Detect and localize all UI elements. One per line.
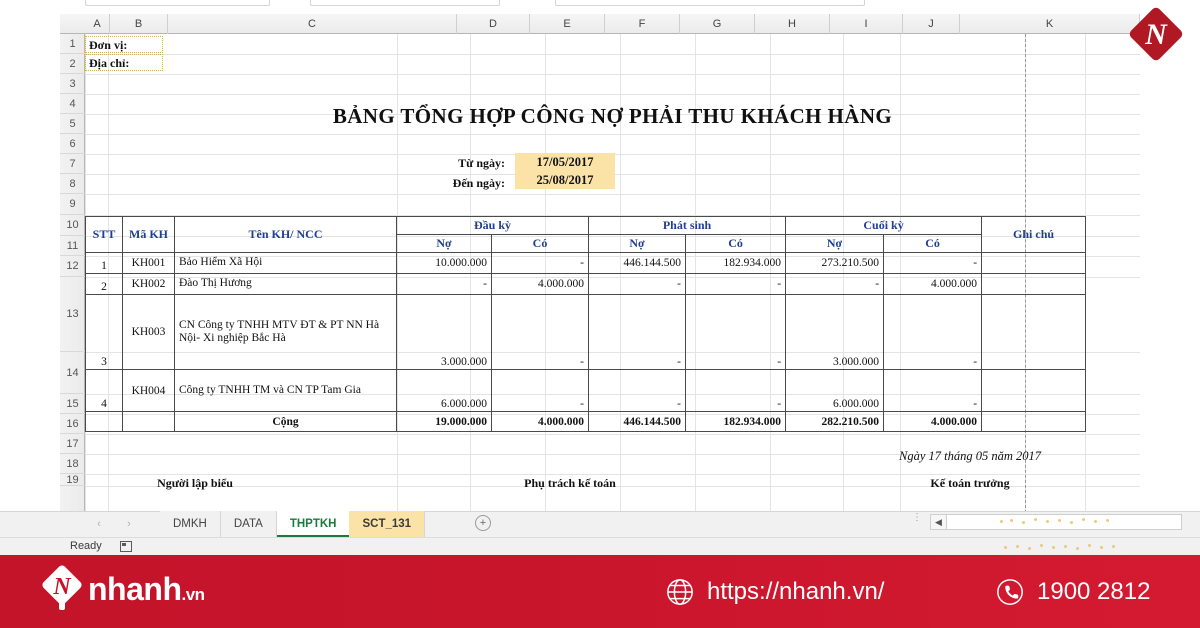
formula-input-left[interactable] [310, 0, 500, 6]
add-sheet-button[interactable]: + [475, 515, 491, 531]
speckle [1046, 520, 1049, 523]
row-header-7[interactable]: 7 [60, 154, 85, 174]
row-name: Bảo Hiểm Xã Hội [175, 253, 397, 274]
row-name: CN Công ty TNHH MTV ĐT & PT NN Hà Nội- X… [175, 295, 397, 370]
row-header-9[interactable]: 9 [60, 194, 85, 215]
column-header-I[interactable]: I [830, 14, 903, 34]
row-open-debit: 3.000.000 [397, 295, 492, 370]
speckle [1082, 518, 1085, 521]
row-mov-credit: - [686, 370, 786, 412]
th-mov-debit: Nợ [589, 235, 686, 253]
signature-date: Ngày 17 tháng 05 năm 2017 [845, 449, 1095, 464]
row-header-16[interactable]: 16 [60, 414, 85, 434]
total-note [982, 412, 1086, 432]
th-close-debit: Nợ [786, 235, 884, 253]
row-header-19[interactable]: 19 [60, 474, 85, 486]
row-close-credit: - [884, 370, 982, 412]
th-open-credit: Có [492, 235, 589, 253]
row-header-8[interactable]: 8 [60, 174, 85, 194]
row-header-5[interactable]: 5 [60, 114, 85, 134]
table-row[interactable]: 2KH002Đào Thị Hương-4.000.000---4.000.00… [86, 274, 1086, 295]
receivables-summary-table: STT Mã KH Tên KH/ NCC Đầu kỳ Phát sinh C… [85, 216, 1086, 432]
column-header-A[interactable]: A [85, 14, 110, 34]
speckle [1022, 521, 1025, 524]
to-date-label: Đến ngày: [415, 176, 505, 191]
speckle [1034, 518, 1037, 521]
banner-url-text[interactable]: https://nhanh.vn/ [707, 578, 884, 606]
speckle [1058, 519, 1061, 522]
th-opening: Đầu kỳ [397, 217, 589, 235]
total-mov-credit: 182.934.000 [686, 412, 786, 432]
row-code: KH001 [123, 253, 175, 274]
row-open-credit: 4.000.000 [492, 274, 589, 295]
column-header-E[interactable]: E [530, 14, 605, 34]
row-mov-debit: - [589, 295, 686, 370]
column-header-row: ABCDEFGHIJK [60, 14, 1140, 34]
th-code: Mã KH [123, 217, 175, 253]
logo-n-glyph: N [1130, 10, 1182, 64]
speckle [1106, 519, 1109, 522]
scroll-left-arrow[interactable]: ◀ [931, 515, 947, 529]
globe-icon [665, 577, 695, 607]
sheet-tab-dmkh[interactable]: DMKH [160, 511, 221, 537]
speckle [1040, 544, 1043, 547]
banner-logo-mark-icon: N [42, 567, 82, 611]
sheet-canvas[interactable]: Đơn vị: Địa chỉ: BẢNG TỔNG HỢP CÔNG NỢ P… [85, 34, 1140, 518]
scroll-grip-dots[interactable]: ⋮ [912, 515, 922, 520]
row-stt: 2 [86, 274, 123, 295]
phone-icon [995, 577, 1025, 607]
row-header-4[interactable]: 4 [60, 94, 85, 114]
row-open-credit: - [492, 253, 589, 274]
from-date-label: Từ ngày: [415, 156, 505, 171]
accessibility-check-icon[interactable] [120, 541, 132, 552]
row-header-17[interactable]: 17 [60, 434, 85, 454]
row-code: KH003 [123, 295, 175, 370]
status-ready-text: Ready [70, 540, 102, 552]
column-header-J[interactable]: J [903, 14, 960, 34]
banner-logo: N nhanh.vn [42, 567, 205, 611]
row-stt: 4 [86, 370, 123, 412]
row-stt: 3 [86, 295, 123, 370]
row-header-gutter: 12345678910111213141516171819 [60, 34, 85, 518]
speckle [1004, 546, 1007, 549]
column-header-K[interactable]: K [960, 14, 1140, 34]
column-header-F[interactable]: F [605, 14, 680, 34]
name-box[interactable] [85, 0, 270, 6]
column-header-H[interactable]: H [755, 14, 830, 34]
th-close-credit: Có [884, 235, 982, 253]
row-mov-debit: 446.144.500 [589, 253, 686, 274]
signature-chief: Kế toán trưởng [845, 476, 1095, 491]
speckle [1094, 520, 1097, 523]
row-close-debit: 3.000.000 [786, 295, 884, 370]
speckle [1010, 519, 1013, 522]
screenshot-root: ABCDEFGHIJK 1234567891011121314151617181… [0, 0, 1200, 628]
status-bar: Ready [0, 537, 1200, 555]
address-label: Địa chỉ: [87, 56, 131, 71]
row-code: KH004 [123, 370, 175, 412]
column-header-D[interactable]: D [457, 14, 530, 34]
to-date-value[interactable]: 25/08/2017 [515, 171, 615, 189]
row-close-credit: - [884, 295, 982, 370]
speckle [1100, 546, 1103, 549]
sheet-tab-sct_131[interactable]: SCT_131 [349, 511, 425, 537]
table-row[interactable]: 1KH001Bảo Hiểm Xã Hội10.000.000-446.144.… [86, 253, 1086, 274]
unit-label: Đơn vị: [87, 38, 129, 53]
row-header-10[interactable]: 10 [60, 215, 85, 236]
speckle [1016, 545, 1019, 548]
row-mov-credit: - [686, 274, 786, 295]
row-close-debit: 6.000.000 [786, 370, 884, 412]
th-name: Tên KH/ NCC [175, 217, 397, 253]
table-header-group-row: STT Mã KH Tên KH/ NCC Đầu kỳ Phát sinh C… [86, 217, 1086, 235]
speckle [1076, 547, 1079, 550]
speckle [1064, 545, 1067, 548]
horizontal-scrollbar[interactable]: ◀ [930, 514, 1182, 530]
column-header-B[interactable]: B [110, 14, 168, 34]
row-mov-credit: 182.934.000 [686, 253, 786, 274]
total-open-credit: 4.000.000 [492, 412, 589, 432]
row-close-credit: - [884, 253, 982, 274]
table-row[interactable]: 4KH004Công ty TNHH TM và CN TP Tam Gia6.… [86, 370, 1086, 412]
speckle [1000, 520, 1003, 523]
bottom-brand-banner: N nhanh.vn https://nhanh.vn/ [0, 555, 1200, 628]
speckle [1070, 521, 1073, 524]
formula-input-right[interactable] [555, 0, 865, 6]
th-open-debit: Nợ [397, 235, 492, 253]
column-header-G[interactable]: G [680, 14, 755, 34]
row-note [982, 274, 1086, 295]
from-date-value[interactable]: 17/05/2017 [515, 153, 615, 171]
row-mov-debit: - [589, 274, 686, 295]
row-header-1[interactable]: 1 [60, 34, 85, 54]
signature-accounting: Phụ trách kế toán [455, 476, 685, 491]
row-header-6[interactable]: 6 [60, 134, 85, 154]
speckle [1088, 544, 1091, 547]
signature-preparer: Người lập biểu [85, 476, 310, 491]
row-code: KH002 [123, 274, 175, 295]
th-closing: Cuối kỳ [786, 217, 982, 235]
row-open-credit: - [492, 295, 589, 370]
th-note: Ghi chú [982, 217, 1086, 253]
sheet-tabs: DMKHDATATHPTKHSCT_131 [160, 511, 425, 537]
row-close-credit: 4.000.000 [884, 274, 982, 295]
banner-wordmark: nhanh.vn [88, 571, 205, 608]
sheet-tab-data[interactable]: DATA [221, 511, 277, 537]
banner-url-block[interactable]: https://nhanh.vn/ [665, 577, 884, 607]
total-close-credit: 4.000.000 [884, 412, 982, 432]
row-header-12[interactable]: 12 [60, 256, 85, 277]
row-stt: 1 [86, 253, 123, 274]
banner-brand-name: nhanh [88, 571, 181, 607]
th-mov-credit: Có [686, 235, 786, 253]
row-note [982, 253, 1086, 274]
sheet-next-arrow[interactable]: › [127, 518, 131, 530]
formula-bar-strip [0, 0, 1200, 14]
column-header-C[interactable]: C [168, 14, 457, 34]
row-header-2[interactable]: 2 [60, 54, 85, 74]
total-mov-debit: 446.144.500 [589, 412, 686, 432]
row-close-debit: - [786, 274, 884, 295]
row-note [982, 370, 1086, 412]
total-blank-code [123, 412, 175, 432]
excel-worksheet-area: ABCDEFGHIJK 1234567891011121314151617181… [0, 0, 1200, 555]
speckle [1052, 546, 1055, 549]
th-movement: Phát sinh [589, 217, 786, 235]
sheet-tab-thptkh[interactable]: THPTKH [277, 511, 350, 537]
row-header-13[interactable]: 13 [60, 277, 85, 352]
row-note [982, 295, 1086, 370]
banner-phone-text[interactable]: 1900 2812 [1037, 578, 1150, 606]
page-title: BẢNG TỔNG HỢP CÔNG NỢ PHẢI THU KHÁCH HÀN… [85, 104, 1140, 129]
row-open-debit: 10.000.000 [397, 253, 492, 274]
sheet-prev-arrow[interactable]: ‹ [97, 518, 101, 530]
total-open-debit: 19.000.000 [397, 412, 492, 432]
speckle [1028, 547, 1031, 550]
row-open-debit: 6.000.000 [397, 370, 492, 412]
row-name: Công ty TNHH TM và CN TP Tam Gia [175, 370, 397, 412]
row-mov-debit: - [589, 370, 686, 412]
sheet-nav-arrows[interactable]: ‹ › [84, 514, 144, 534]
row-close-debit: 273.210.500 [786, 253, 884, 274]
table-body: 1KH001Bảo Hiểm Xã Hội10.000.000-446.144.… [86, 253, 1086, 432]
row-header-15[interactable]: 15 [60, 394, 85, 414]
row-header-3[interactable]: 3 [60, 74, 85, 94]
speckle [1112, 545, 1115, 548]
row-open-credit: - [492, 370, 589, 412]
row-name: Đào Thị Hương [175, 274, 397, 295]
nhanh-logo-icon: N [1130, 10, 1182, 64]
row-header-18[interactable]: 18 [60, 454, 85, 474]
row-mov-credit: - [686, 295, 786, 370]
th-stt: STT [86, 217, 123, 253]
table-row[interactable]: 3KH003CN Công ty TNHH MTV ĐT & PT NN Hà … [86, 295, 1086, 370]
total-close-debit: 282.210.500 [786, 412, 884, 432]
row-open-debit: - [397, 274, 492, 295]
banner-phone-block[interactable]: 1900 2812 [995, 577, 1150, 607]
row-header-14[interactable]: 14 [60, 352, 85, 394]
total-label: Cộng [175, 412, 397, 432]
row-header-11[interactable]: 11 [60, 236, 85, 256]
total-blank-stt [86, 412, 123, 432]
banner-logo-stem [59, 601, 65, 610]
banner-brand-tld: .vn [181, 585, 204, 604]
table-total-row: Cộng19.000.0004.000.000446.144.500182.93… [86, 412, 1086, 432]
